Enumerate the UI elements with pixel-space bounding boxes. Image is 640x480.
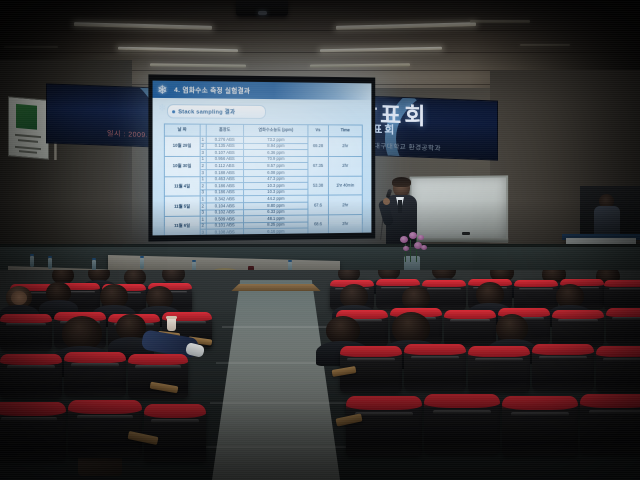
projector-lens — [258, 11, 267, 15]
seat — [0, 314, 52, 350]
seat — [502, 396, 578, 456]
seat — [346, 396, 422, 456]
wall-poster — [8, 96, 49, 160]
seat — [0, 354, 62, 398]
audience-member — [402, 286, 430, 310]
seat — [514, 280, 558, 310]
audience-member — [340, 284, 368, 308]
slide-header-fade — [274, 82, 371, 100]
slide-bullet-box: Stack sampling 결과 — [167, 104, 266, 119]
audience-member — [88, 270, 110, 282]
audience-member — [326, 316, 360, 344]
cell-time: 2hr — [328, 156, 362, 176]
seat — [68, 400, 142, 458]
audience-member — [100, 284, 128, 308]
col-date: 날 짜 — [164, 124, 199, 136]
cell-time: 1hr 40min — [328, 176, 362, 196]
cell-date: 11월 4일 — [164, 176, 199, 196]
cell-vs: 53.38 — [308, 176, 328, 196]
seat — [606, 308, 640, 344]
seat — [64, 352, 126, 396]
cell-date: 10월 29일 — [164, 136, 199, 156]
snowflake-icon: ❄ — [156, 84, 169, 97]
audience-member — [46, 282, 71, 303]
seat — [404, 344, 466, 390]
audience-member — [62, 316, 102, 350]
cell-vs: 67.35 — [308, 156, 328, 176]
seat — [604, 280, 640, 310]
audience-member — [116, 314, 146, 340]
audience-member — [432, 270, 456, 280]
seat — [144, 404, 206, 462]
audience-member — [556, 284, 584, 308]
seat — [596, 346, 640, 392]
bullet-dot-icon — [172, 110, 175, 113]
col-absorbance: 흡광도 — [206, 124, 244, 136]
presenter-hair — [392, 177, 411, 187]
col-concentration: 염화수소농도 (ppm) — [244, 124, 308, 136]
seat — [128, 354, 188, 398]
audience-member — [146, 286, 173, 309]
auditorium-photo: 대구대 대구 일시 : 2009. 11. 20 대구대학교 환경공학과 발표회… — [0, 0, 640, 480]
slide-bullet-text: Stack sampling 결과 — [178, 107, 235, 116]
audience-seating — [0, 270, 640, 480]
ceiling-projector — [236, 0, 288, 16]
cell-vs: 69.28 — [308, 137, 328, 157]
seat — [532, 344, 594, 390]
slide-title: 4. 염화수소 측정 실험결과 — [174, 84, 250, 95]
seat — [552, 310, 604, 346]
seat — [468, 346, 530, 392]
seat — [424, 394, 500, 454]
table-header-row: 날 짜 흡광도 염화수소농도 (ppm) Vs Time — [164, 124, 362, 137]
cell-absorbance: 0.107 ABS — [206, 150, 244, 157]
wall-shadow — [0, 200, 640, 280]
cell-date: 10월 30일 — [164, 156, 199, 176]
audience-member — [476, 282, 504, 306]
seat — [0, 402, 66, 460]
poster-graphic — [16, 104, 37, 130]
seat — [444, 310, 496, 346]
col-vs: Vs — [308, 125, 328, 137]
col-time: Time — [328, 125, 362, 137]
cell-time: 2hr — [328, 137, 362, 157]
paper-coffee-cup — [167, 318, 176, 331]
audience-member — [6, 286, 32, 308]
audience-member — [392, 312, 430, 344]
seat — [580, 394, 640, 454]
audience-member — [496, 314, 528, 342]
audience-member — [162, 270, 185, 283]
